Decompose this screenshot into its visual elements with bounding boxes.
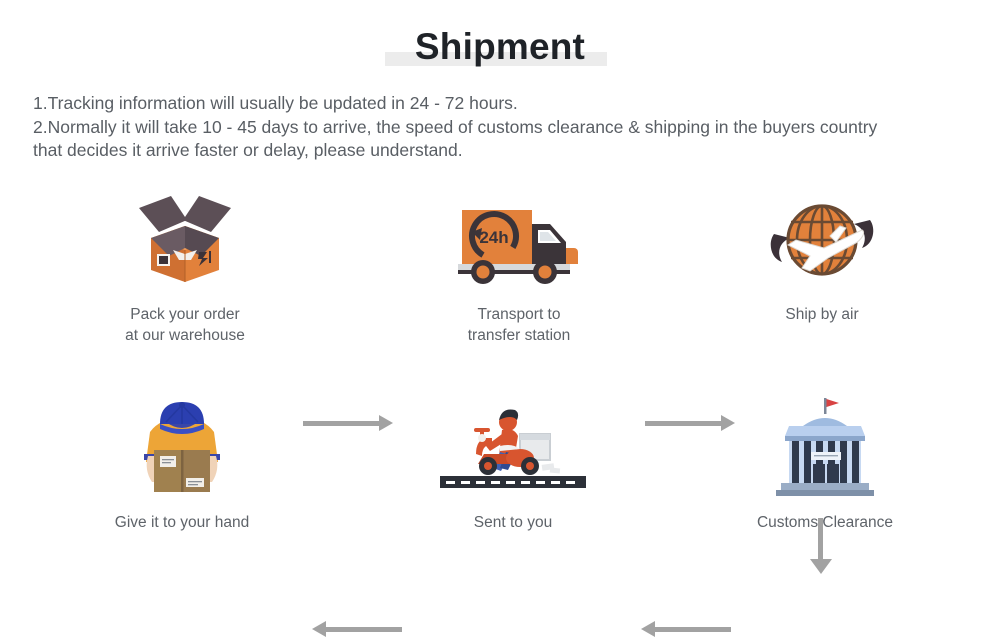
- open-box-icon: [70, 190, 300, 290]
- step-caption: Ship by air: [707, 304, 937, 325]
- step-caption: Pack your order at our warehouse: [70, 304, 300, 346]
- step-caption: Transport to transfer station: [404, 304, 634, 346]
- step-transport-to-transfer-station: 24h Transport to transfer station: [404, 190, 634, 346]
- shipment-note-line-2: 2.Normally it will take 10 - 45 days to …: [33, 116, 963, 140]
- step-ship-by-air: Ship by air: [707, 190, 937, 325]
- shipment-note-line-1: 1.Tracking information will usually be u…: [33, 92, 963, 116]
- arrow-pack-to-transport: [303, 412, 393, 434]
- truck-24h-badge: 24h: [479, 228, 508, 247]
- scooter-courier-icon: [398, 398, 628, 498]
- globe-airplane-icon: [707, 190, 937, 290]
- courier-holding-box-icon: [67, 398, 297, 498]
- customs-building-icon: [710, 398, 940, 498]
- step-customs-clearance: Customs Clearance: [710, 398, 940, 533]
- arrow-sent-to-hand: [312, 618, 402, 640]
- step-caption: Sent to you: [398, 512, 628, 533]
- step-pack-your-order: Pack your order at our warehouse: [70, 190, 300, 346]
- arrow-air-to-customs: [810, 518, 832, 574]
- page-title-wrap: Shipment: [0, 24, 1000, 70]
- page-title: Shipment: [415, 24, 585, 70]
- step-give-it-to-your-hand: Give it to your hand: [67, 398, 297, 533]
- step-sent-to-you: Sent to you: [398, 398, 628, 533]
- arrow-customs-to-sent: [641, 618, 731, 640]
- step-caption: Give it to your hand: [67, 512, 297, 533]
- delivery-truck-24h-icon: 24h: [404, 190, 634, 290]
- arrow-transport-to-air: [645, 412, 735, 434]
- shipment-flow-diagram: Pack your order at our warehouse: [0, 180, 1000, 580]
- shipment-note-line-3: that decides it arrive faster or delay, …: [33, 139, 963, 163]
- shipment-notes: 1.Tracking information will usually be u…: [33, 92, 963, 163]
